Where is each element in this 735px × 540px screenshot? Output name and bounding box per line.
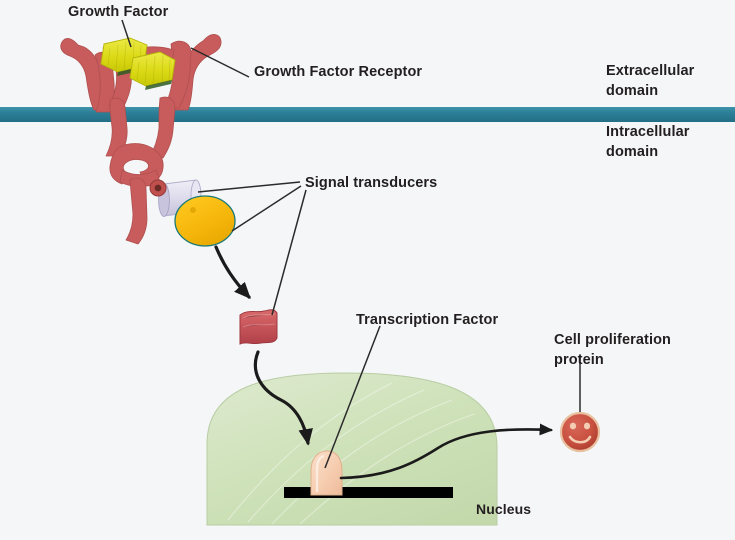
label-transcription-factor: Transcription Factor bbox=[356, 310, 498, 330]
label-growth-factor-receptor: Growth Factor Receptor bbox=[254, 62, 422, 82]
arrow-oval-to-messenger bbox=[216, 247, 249, 297]
leader-signal-oval bbox=[232, 186, 301, 231]
transcription-factor-shape bbox=[311, 451, 342, 495]
leader-signal-cylinder bbox=[198, 182, 300, 192]
label-signal-transducers: Signal transducers bbox=[305, 173, 437, 193]
label-intracellular-domain: Intracellular domain bbox=[606, 122, 690, 162]
second-messenger-shape bbox=[240, 310, 277, 344]
label-cell-proliferation-protein: Cell proliferation protein bbox=[554, 330, 671, 370]
label-nucleus: Nucleus bbox=[476, 500, 531, 519]
signal-transducer-oval bbox=[175, 196, 235, 246]
dna-strand bbox=[284, 487, 453, 498]
label-extracellular-domain: Extracellular domain bbox=[606, 61, 694, 101]
ligand-hexagon-2 bbox=[130, 52, 175, 90]
nucleus-shape bbox=[207, 373, 497, 525]
cell-proliferation-protein-shape bbox=[561, 413, 599, 451]
diagram-canvas: Growth Factor Growth Factor Receptor Sig… bbox=[0, 0, 735, 540]
label-growth-factor: Growth Factor bbox=[68, 2, 168, 22]
leader-signal-messenger bbox=[272, 190, 306, 315]
